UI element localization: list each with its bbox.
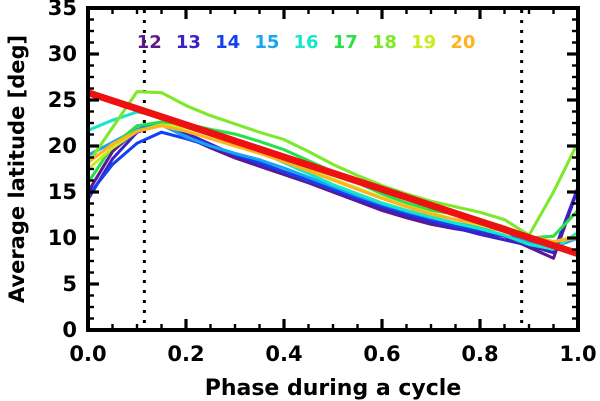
ytick-label: 25 — [48, 88, 77, 112]
legend-label-17: 17 — [333, 32, 358, 53]
y-axis-title: Average latitude [deg] — [5, 35, 29, 303]
xtick-label: 1.0 — [559, 342, 596, 366]
legend-label-15: 15 — [254, 32, 279, 53]
legend-label-20: 20 — [450, 32, 475, 53]
ytick-label: 35 — [48, 0, 77, 20]
ytick-label: 0 — [62, 318, 77, 342]
xtick-label: 0.6 — [363, 342, 400, 366]
legend-label-13: 13 — [176, 32, 201, 53]
ytick-label: 30 — [48, 42, 77, 66]
legend-label-16: 16 — [294, 32, 319, 53]
ytick-label: 10 — [48, 226, 77, 250]
legend-label-12: 12 — [137, 32, 162, 53]
xtick-label: 0.4 — [265, 342, 302, 366]
xtick-label: 0.2 — [167, 342, 204, 366]
legend-label-18: 18 — [372, 32, 397, 53]
ytick-label: 15 — [48, 180, 77, 204]
ytick-label: 20 — [48, 134, 77, 158]
chart-figure: 0.00.20.40.60.81.005101520253035Phase du… — [0, 0, 600, 401]
legend-label-14: 14 — [215, 32, 240, 53]
legend-label-19: 19 — [411, 32, 436, 53]
xtick-label: 0.8 — [461, 342, 498, 366]
ytick-label: 5 — [62, 272, 77, 296]
xtick-label: 0.0 — [69, 342, 106, 366]
x-axis-title: Phase during a cycle — [205, 376, 462, 401]
